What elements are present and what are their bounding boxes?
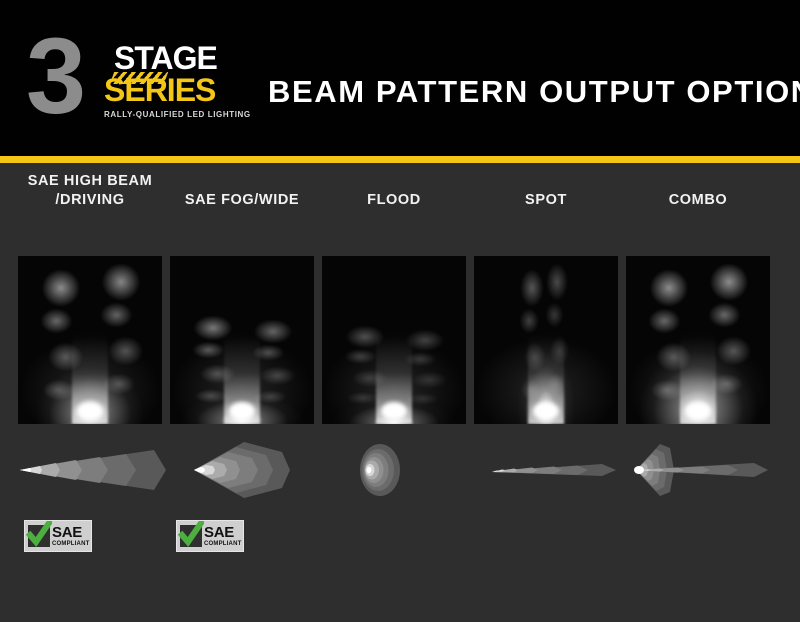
column-label-line1: SPOT [525, 192, 567, 208]
column-label: SAE HIGH BEAM /DRIVING [14, 172, 166, 210]
header-bar: 3 STAGE SERIES RALLY-QUALIFIED LED LIGHT… [0, 0, 800, 156]
logo-numeral: 3 [26, 24, 80, 128]
column-label: SAE FOG/WIDE [166, 191, 318, 210]
badge-text: SAE COMPLIANT [52, 525, 89, 547]
beam-photo-spot [474, 256, 618, 424]
logo-word-series: SERIES [104, 74, 215, 106]
pattern-column-spot: SPOT SAE [470, 172, 622, 602]
badge-line2: COMPLIANT [52, 541, 89, 547]
beam-diagram-broad-fan [166, 436, 318, 504]
badge-text: SAE COMPLIANT [204, 525, 241, 547]
column-label-line1: COMBO [669, 192, 728, 208]
badge-line2: COMPLIANT [204, 541, 241, 547]
beam-pattern-infographic: 3 STAGE SERIES RALLY-QUALIFIED LED LIGHT… [0, 0, 800, 622]
pattern-column-flood: FLOOD SAE [318, 172, 470, 602]
column-label: SPOT [470, 191, 622, 210]
checkmark-icon [180, 525, 202, 547]
badge-line1: SAE [52, 525, 89, 540]
logo-tagline: RALLY-QUALIFIED LED LIGHTING [104, 110, 251, 119]
page-title: BEAM PATTERN OUTPUT OPTIONS [268, 74, 800, 110]
checkmark-icon [28, 525, 50, 547]
pattern-column-sae-fog-wide: SAE FOG/WIDE [166, 172, 318, 602]
beam-diagram-wide-long-cone [14, 436, 166, 504]
beam-diagram-round-blob [318, 436, 470, 504]
beam-photo-sae-high-beam-driving [18, 256, 162, 424]
pattern-grid: SAE HIGH BEAM /DRIVING [0, 172, 800, 602]
sae-compliant-badge: SAE COMPLIANT [176, 520, 244, 552]
logo-wordmark: STAGE SERIES RALLY-QUALIFIED LED LIGHTIN… [102, 42, 242, 134]
column-label-line2: /DRIVING [55, 192, 124, 208]
sae-compliant-badge: SAE COMPLIANT [24, 520, 92, 552]
brand-logo: 3 STAGE SERIES RALLY-QUALIFIED LED LIGHT… [26, 26, 241, 130]
beam-photo-sae-fog-wide [170, 256, 314, 424]
beam-diagram-fan-plus-needle [622, 436, 774, 504]
accent-divider [0, 156, 800, 163]
column-label-line1: SAE FOG/WIDE [185, 192, 299, 208]
column-label-line1: FLOOD [367, 192, 421, 208]
beam-photo-combo [626, 256, 770, 424]
column-label: COMBO [622, 191, 774, 210]
beam-diagram-narrow-needle [470, 436, 622, 504]
pattern-column-sae-high-beam-driving: SAE HIGH BEAM /DRIVING [14, 172, 166, 602]
column-label: FLOOD [318, 191, 470, 210]
badge-line1: SAE [204, 525, 241, 540]
beam-photo-flood [322, 256, 466, 424]
pattern-column-combo: COMBO [622, 172, 774, 602]
column-label-line1: SAE HIGH BEAM [28, 173, 153, 189]
logo-word-stage: STAGE [114, 42, 217, 74]
